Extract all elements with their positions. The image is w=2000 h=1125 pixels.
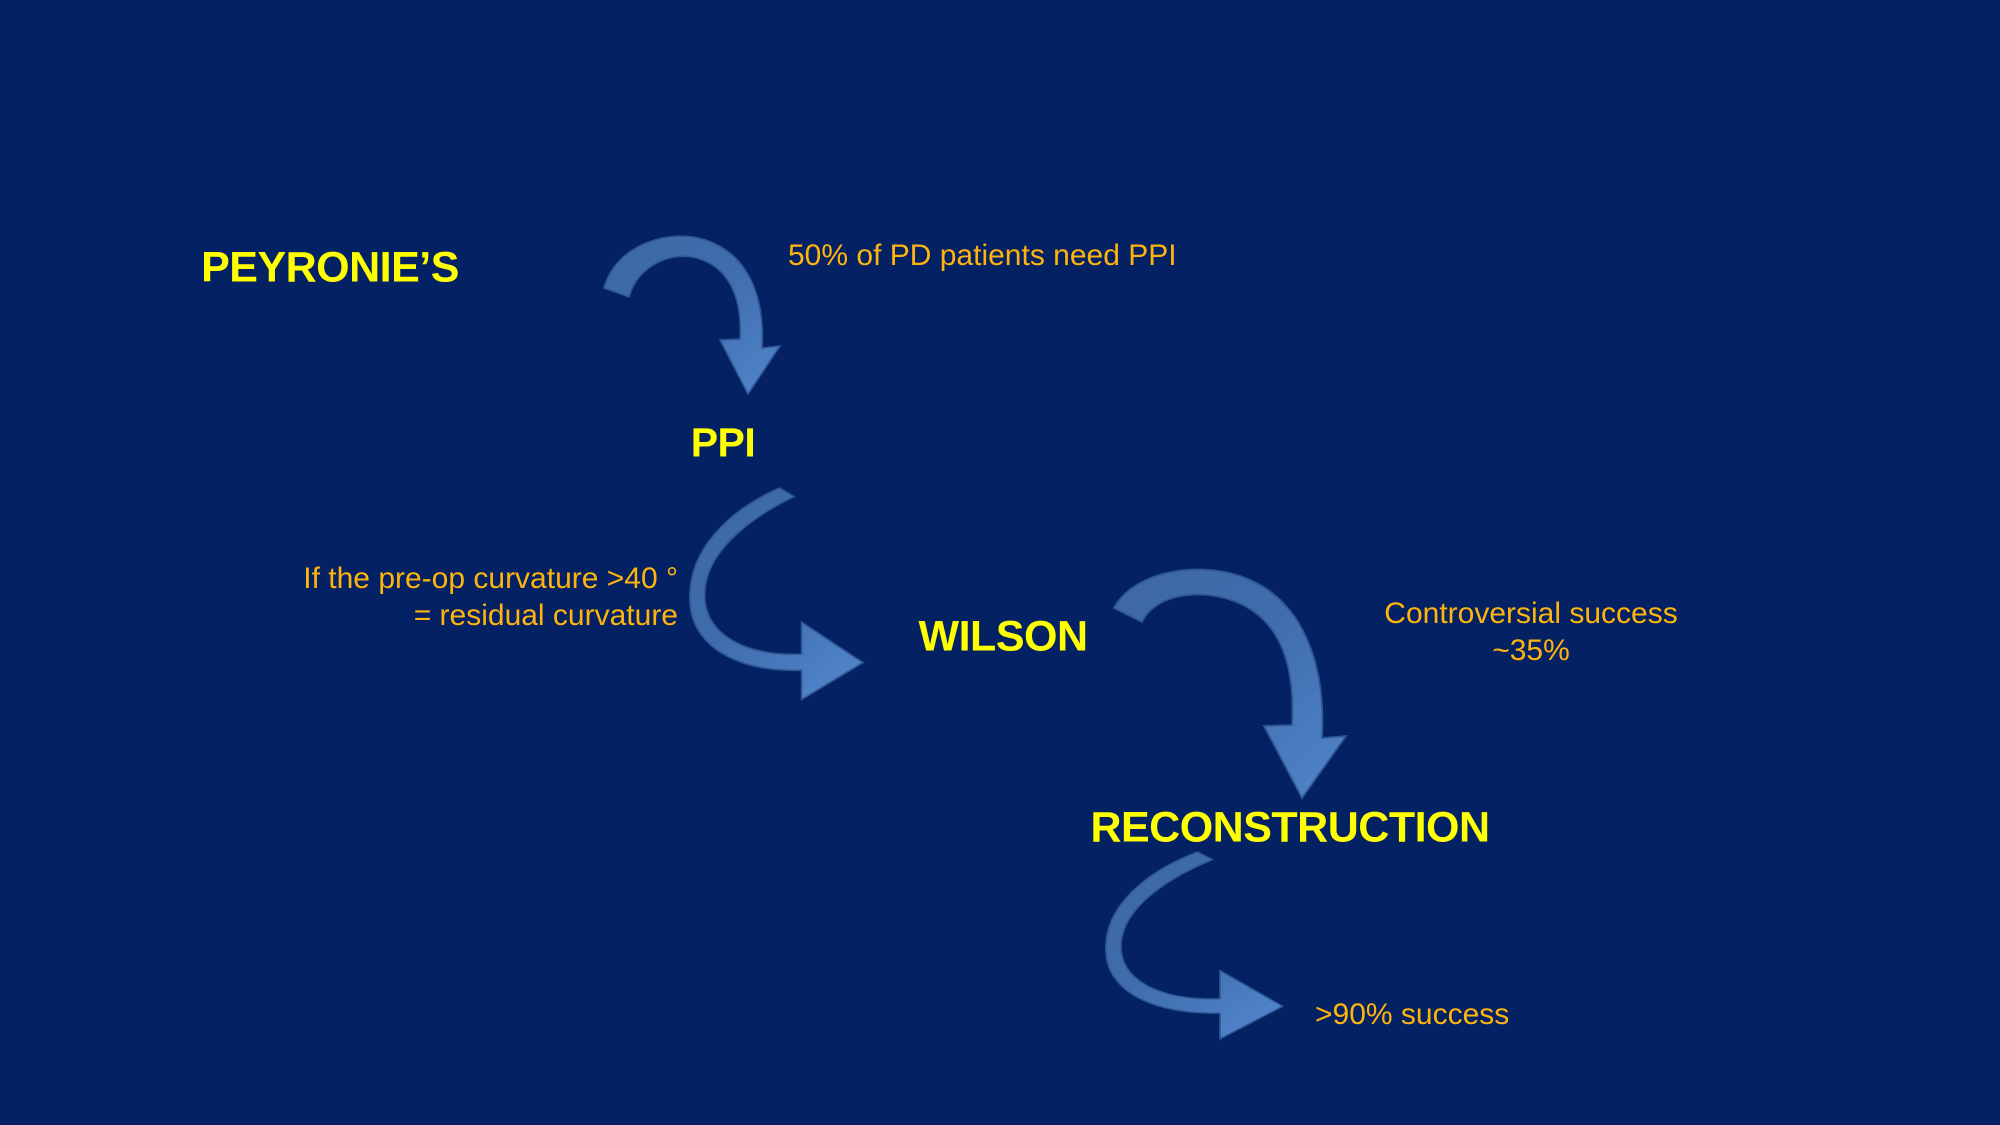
annotation-ppi-need: 50% of PD patients need PPI bbox=[788, 238, 1177, 275]
annotation-residual-curvature: If the pre-op curvature >40 ° = residual… bbox=[244, 561, 678, 634]
node-wilson-label: WILSON bbox=[919, 616, 1088, 659]
curved-arrow-ppi-to-wilson bbox=[684, 482, 924, 707]
node-ppi-label: PPI bbox=[691, 423, 756, 464]
annotation-ninety-percent-success: >90% success bbox=[1315, 997, 1509, 1034]
slide-canvas: PEYRONIE’S PPI WILSON RECONSTRUCTION 50%… bbox=[0, 0, 2000, 1125]
curved-arrow-reconstruction-to-success bbox=[1102, 848, 1347, 1046]
annotation-controversial-success: Controversial success ~35% bbox=[1366, 596, 1696, 669]
node-peyronies-label: PEYRONIE’S bbox=[201, 247, 459, 290]
curved-arrow-wilson-to-reconstruction bbox=[1110, 560, 1355, 795]
curved-arrow-peyronies-to-ppi bbox=[600, 228, 800, 403]
node-reconstruction-label: RECONSTRUCTION bbox=[1090, 807, 1489, 850]
